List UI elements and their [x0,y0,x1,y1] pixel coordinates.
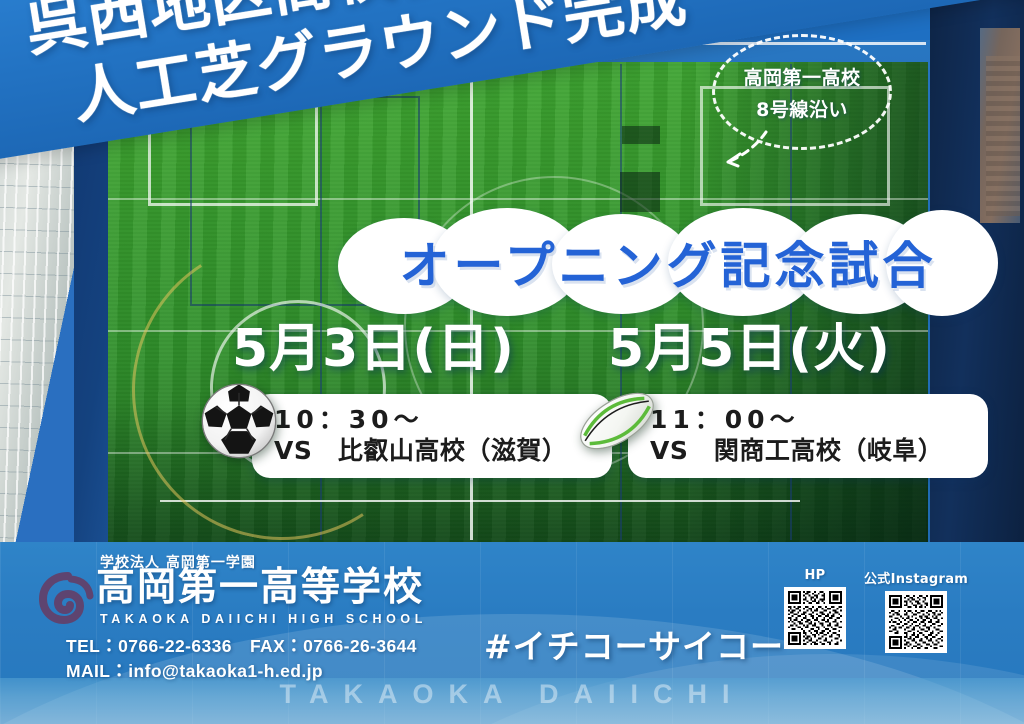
tel-label: TEL：0766-22-6336 [66,636,232,656]
bubble-line-route: 8号線沿い [756,95,848,122]
match-date-2: 5月5日(火) [608,322,1008,377]
event-title-text: オープニング記念試合 [338,208,998,316]
match-date-1: 5月3日(日) [232,322,632,377]
contact-line-phone: TEL：0766-22-6336FAX：0766-26-3644 [66,634,417,659]
qr-code-group: HP [784,568,968,653]
match-opponent-1: VS 比叡山高校（滋賀） [274,435,598,466]
hashtag-label: #イチコーサイコー [484,620,784,668]
bubble-line-school: 高岡第一高校 [743,63,860,90]
qr-item-hp[interactable]: HP [784,568,846,653]
goal-shadow-2 [620,172,660,212]
school-name-label: 高岡第一高等学校 [96,567,424,608]
qr-item-instagram[interactable]: 公式Instagram [864,568,968,653]
fax-label: FAX：0766-26-3644 [250,636,417,656]
match-time-1: 10：30〜 [274,404,598,435]
background-right-building-texture [986,56,1020,216]
qr-label-hp: HP [804,568,825,583]
match-column-1: 5月3日(日) 10：30〜 [232,322,632,377]
match-card-2: 11：00〜 VS 関商工高校（岐阜） [628,394,988,478]
poster-root: 呉西地区高校初 人工芝グラウンド完成 高岡第一高校 8号線沿い オープニング記念… [0,0,1024,724]
match-time-2: 11：00〜 [650,404,974,435]
match-card-1: 10：30〜 VS 比叡山高校（滋賀） [252,394,612,478]
match-opponent-2: VS 関商工高校（岐阜） [650,435,974,466]
footer-bar: 学校法人 高岡第一学園 高岡第一高等学校 TAKAOKA DAIICHI HIG… [0,542,1024,724]
qr-code-instagram-image[interactable] [885,591,947,653]
school-logo-icon [38,570,94,626]
soccer-ball-icon [200,382,278,460]
match-column-2: 5月5日(火) 11：00 [608,322,1008,377]
event-title-cloud: オープニング記念試合 [338,208,998,316]
goal-shadow-1 [622,126,660,144]
rugby-ball-icon [574,384,660,458]
school-name-en-label: TAKAOKA DAIICHI HIGH SCHOOL [100,612,427,626]
qr-code-hp-image[interactable] [784,587,846,649]
qr-label-instagram: 公式Instagram [864,568,968,587]
footer-watermark: TAKAOKA DAIICHI [0,679,1024,710]
stadium-left-dark-band [74,140,108,560]
school-contact-block: TEL：0766-22-6336FAX：0766-26-3644 MAIL：in… [66,634,417,684]
location-speech-bubble: 高岡第一高校 8号線沿い [712,34,892,150]
